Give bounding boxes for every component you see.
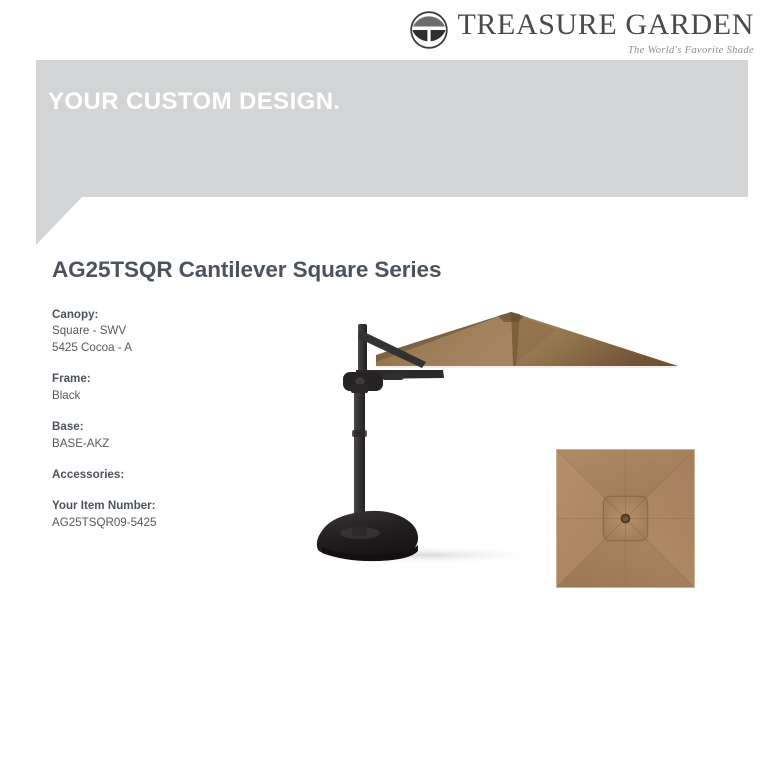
- spec-value: Black: [52, 388, 292, 404]
- umbrella-base: [317, 511, 418, 561]
- spec-group-item-number: Your Item Number: AG25TSQR09-5425: [52, 497, 292, 531]
- spec-label: Base:: [52, 418, 292, 435]
- canopy-center-vent: [603, 496, 647, 540]
- hero-title: YOUR CUSTOM DESIGN.: [48, 88, 341, 116]
- spec-label: Frame:: [52, 370, 292, 387]
- canopy-underside-illustration: [557, 450, 694, 587]
- spec-value: BASE-AKZ: [52, 436, 292, 452]
- brand-logo: TREASURE GARDEN The World's Favorite Sha…: [410, 10, 754, 56]
- spec-group-accessories: Accessories:: [52, 466, 292, 483]
- spec-group-frame: Frame: Black: [52, 370, 292, 404]
- brand-text-block: TREASURE GARDEN The World's Favorite Sha…: [457, 10, 754, 56]
- spec-label: Canopy:: [52, 306, 292, 323]
- spec-label: Your Item Number:: [52, 497, 292, 514]
- brand-name: TREASURE GARDEN: [457, 10, 754, 41]
- spec-group-canopy: Canopy: Square - SWV 5425 Cocoa - A: [52, 306, 292, 356]
- brand-tagline: The World's Favorite Shade: [628, 45, 754, 56]
- brand-header: TREASURE GARDEN The World's Favorite Sha…: [0, 10, 782, 60]
- spec-list: Canopy: Square - SWV 5425 Cocoa - A Fram…: [52, 306, 292, 531]
- page-title: AG25TSQR Cantilever Square Series: [52, 257, 441, 283]
- custom-design-page: TREASURE GARDEN The World's Favorite Sha…: [0, 0, 782, 782]
- umbrella-circle-logo-icon: [410, 11, 448, 49]
- spec-value: 5425 Cocoa - A: [52, 340, 292, 356]
- spec-value: Square - SWV: [52, 323, 292, 339]
- spec-value: AG25TSQR09-5425: [52, 515, 292, 531]
- canopy: [376, 312, 678, 368]
- spec-label: Accessories:: [52, 466, 292, 483]
- canopy-swatch-image: [556, 449, 695, 588]
- spec-group-base: Base: BASE-AKZ: [52, 418, 292, 452]
